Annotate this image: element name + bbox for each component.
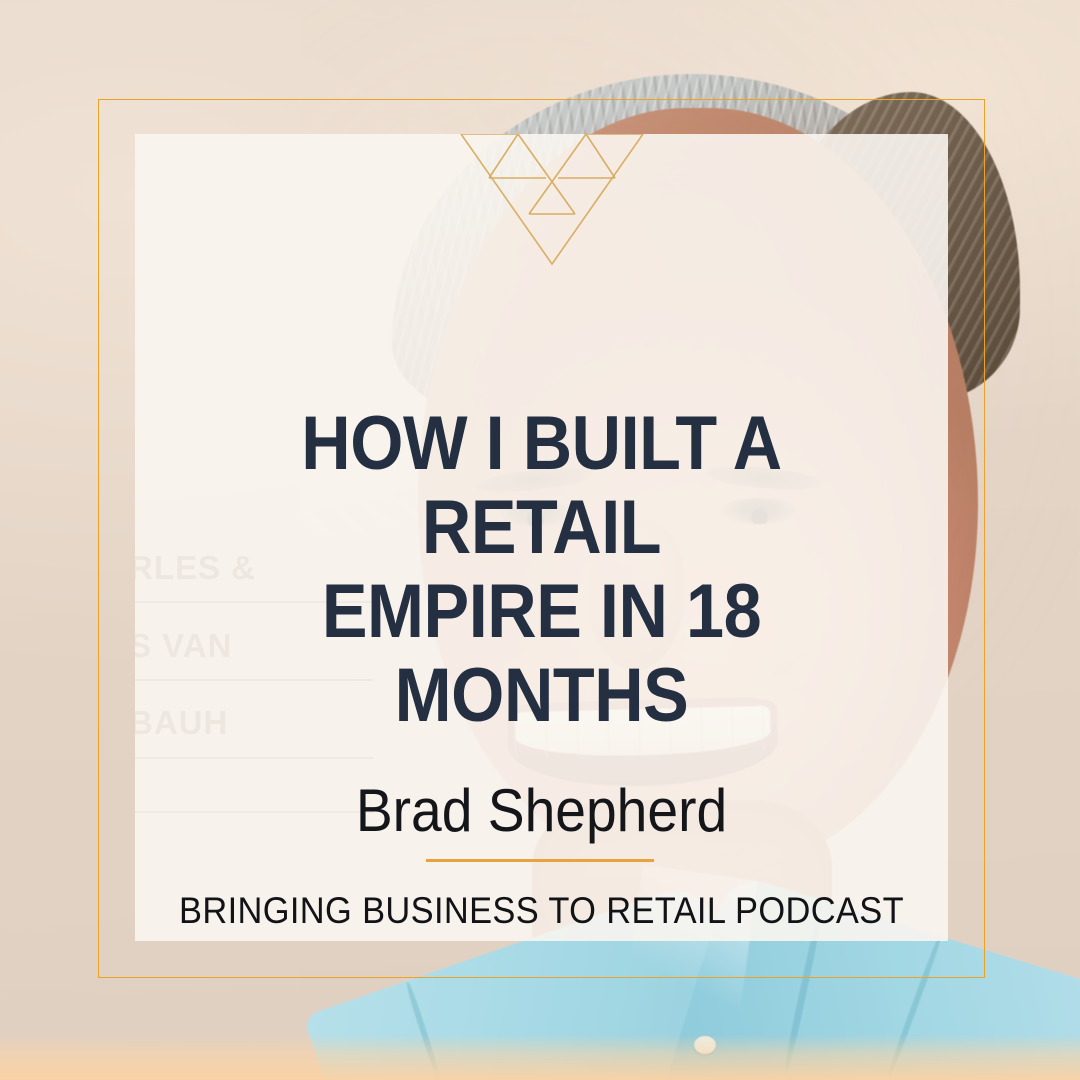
podcast-name-label: BRINGING BUSINESS TO RETAIL PODCAST — [163, 889, 919, 933]
episode-title-line-2: EMPIRE IN 18 MONTHS — [186, 570, 896, 738]
podcast-cover-poster: RLES & S VAN BAUH HOW I BUILT A RETAIL E… — [0, 0, 1080, 1080]
gold-accent-rule — [426, 859, 654, 862]
episode-title: HOW I BUILT A RETAIL EMPIRE IN 18 MONTHS — [176, 402, 908, 738]
episode-title-line-1: HOW I BUILT A RETAIL — [186, 402, 896, 570]
content-card: RLES & S VAN BAUH HOW I BUILT A RETAIL E… — [135, 134, 948, 941]
background-bottom-glow — [0, 1034, 1080, 1080]
diamond-lattice-ornament — [458, 134, 645, 266]
speaker-name: Brad Shepherd — [168, 777, 916, 845]
ghost-divider — [135, 757, 374, 759]
